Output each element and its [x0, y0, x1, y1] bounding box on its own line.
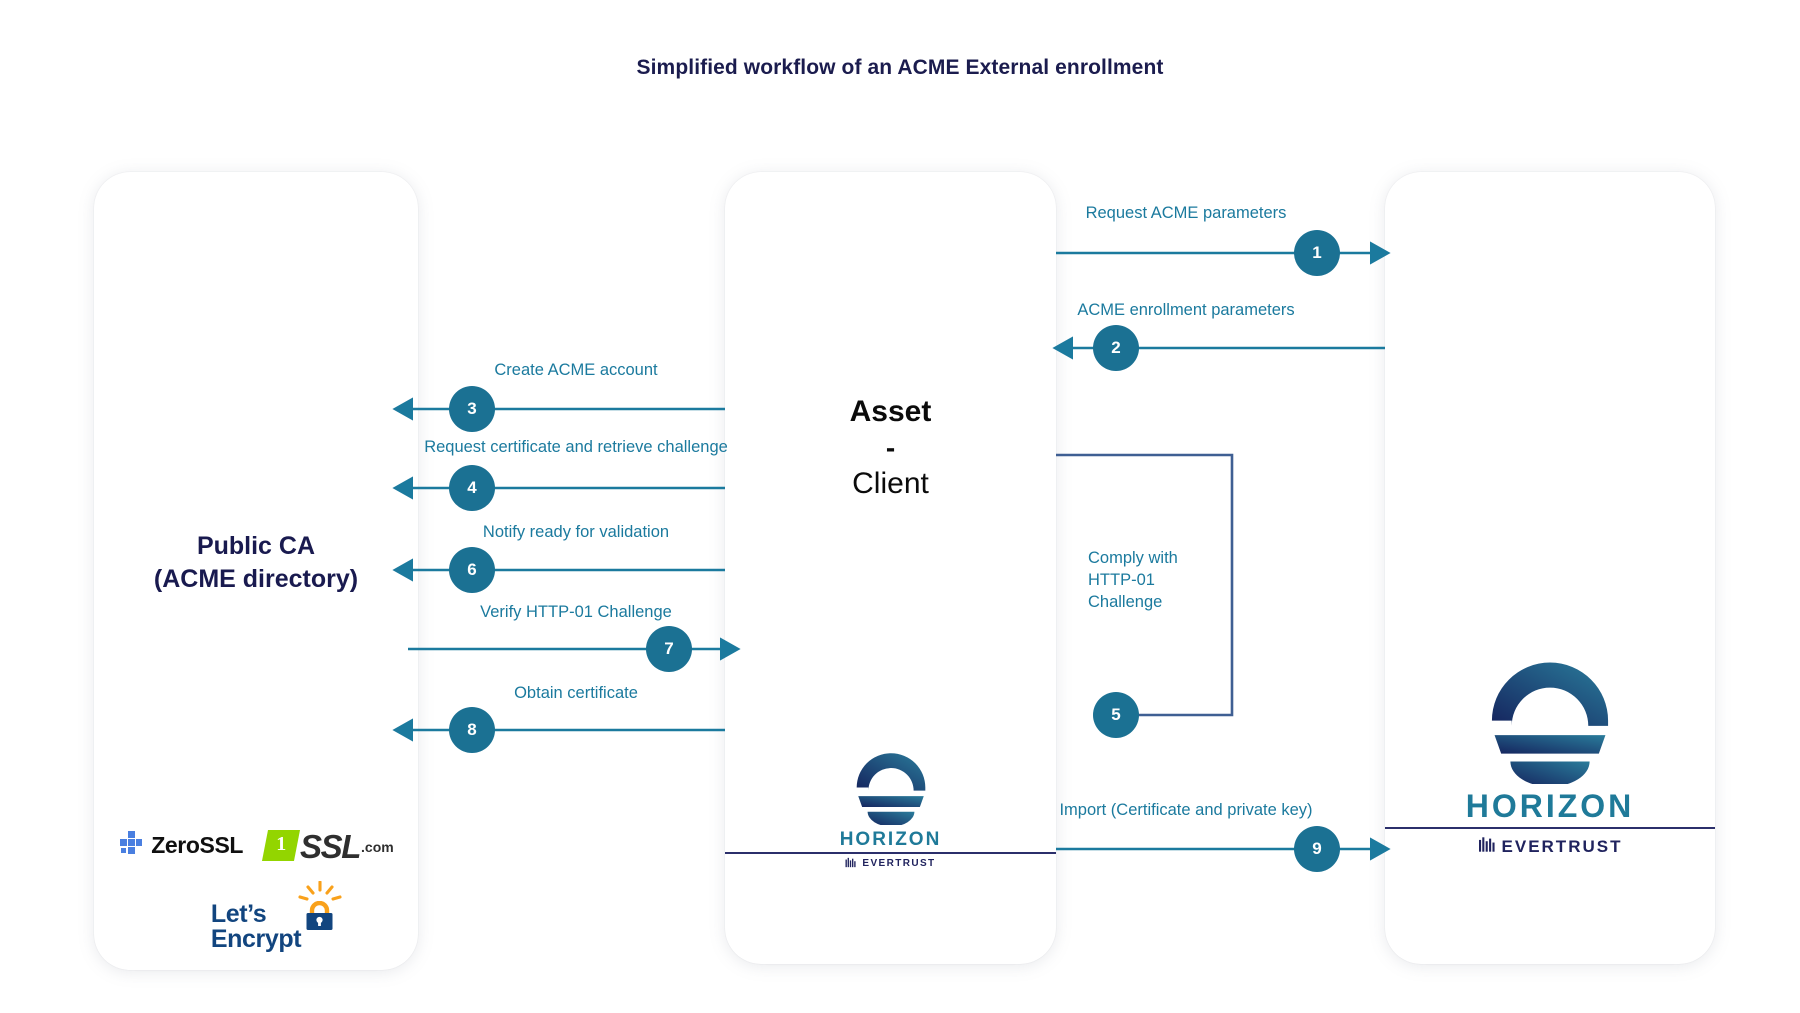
- zerossl-cross-icon: [118, 830, 144, 861]
- evertrust-glyph-icon: [1478, 836, 1497, 858]
- step-badge-7[interactable]: 7: [646, 626, 692, 672]
- lets-encrypt-line1: Let’s: [211, 902, 301, 927]
- asset-client-line1: Asset: [725, 394, 1056, 429]
- sslcom-tld: .com: [361, 835, 394, 860]
- label-step-5-line1: Comply with: [1088, 548, 1218, 570]
- zerossl-logo: ZeroSSL: [118, 830, 243, 861]
- ca-logo-row-top: ZeroSSL SSL .com: [94, 822, 418, 868]
- asset-client-heading: Asset - Client: [725, 394, 1056, 502]
- sslcom-wordmark: SSL: [300, 833, 360, 860]
- label-step-7: Verify HTTP-01 Challenge: [416, 602, 736, 624]
- label-step-3: Create ACME account: [416, 360, 736, 382]
- asset-client-line2: -: [725, 431, 1056, 464]
- evertrust-glyph-icon: [845, 857, 857, 871]
- step-badge-8[interactable]: 8: [449, 707, 495, 753]
- evertrust-text: EVERTRUST: [862, 858, 935, 869]
- evertrust-sub: EVERTRUST: [1478, 836, 1623, 858]
- label-step-4-line1: Request certificate and retrieve: [424, 438, 652, 456]
- step-badge-2[interactable]: 2: [1093, 325, 1139, 371]
- public-ca-title-line1: Public CA: [94, 530, 418, 563]
- horizon-wordmark: HORIZON: [840, 830, 942, 851]
- label-step-9: Import (Certificate and private key): [986, 800, 1386, 822]
- label-step-8: Obtain certificate: [416, 683, 736, 705]
- panel-horizon: HORIZON EVERTRUST: [1385, 172, 1715, 964]
- sslcom-logo: SSL .com: [265, 830, 394, 861]
- panel-public-ca: Public CA (ACME directory): [94, 172, 418, 970]
- label-step-4-line2: challenge: [657, 438, 728, 456]
- public-ca-title: Public CA (ACME directory): [94, 530, 418, 596]
- horizon-mark-icon: [852, 747, 930, 830]
- sslcom-badge-icon: [262, 830, 300, 861]
- label-step-2: ACME enrollment parameters: [986, 300, 1386, 322]
- label-step-5-line2: HTTP-01: [1088, 570, 1218, 592]
- step-badge-6[interactable]: 6: [449, 547, 495, 593]
- label-step-5: Comply with HTTP-01 Challenge: [1088, 548, 1218, 614]
- evertrust-sub: EVERTRUST: [845, 857, 935, 871]
- evertrust-text: EVERTRUST: [1502, 837, 1623, 857]
- asset-client-line3: Client: [725, 466, 1056, 501]
- lets-encrypt-line2: Encrypt: [211, 927, 301, 952]
- lets-encrypt-logo: Let’s Encrypt: [94, 902, 418, 951]
- label-step-1: Request ACME parameters: [986, 203, 1386, 225]
- page-title: Simplified workflow of an ACME External …: [0, 56, 1800, 80]
- step-badge-9[interactable]: 9: [1294, 826, 1340, 872]
- ca-logo-group: ZeroSSL SSL .com: [94, 822, 418, 951]
- padlock-icon: [303, 901, 336, 931]
- horizon-wordmark: HORIZON: [1466, 789, 1635, 824]
- label-step-4: Request certificate and retrieve challen…: [416, 437, 736, 459]
- step-badge-3[interactable]: 3: [449, 386, 495, 432]
- zerossl-wordmark: ZeroSSL: [151, 832, 243, 859]
- step-badge-4[interactable]: 4: [449, 465, 495, 511]
- step-badge-1[interactable]: 1: [1294, 230, 1340, 276]
- horizon-mark-icon: [1484, 652, 1616, 789]
- lets-encrypt-wordmark: Let’s Encrypt: [211, 902, 301, 951]
- horizon-divider: [725, 852, 1056, 854]
- diagram-canvas: Simplified workflow of an ACME External …: [0, 0, 1800, 1013]
- horizon-logo-large: HORIZON EVERTRUST: [1385, 652, 1715, 858]
- step-badge-5[interactable]: 5: [1093, 692, 1139, 738]
- label-step-5-line3: Challenge: [1088, 592, 1218, 614]
- horizon-divider: [1385, 827, 1715, 829]
- panel-asset-client: Asset - Client HORIZON: [725, 172, 1056, 964]
- public-ca-title-line2: (ACME directory): [94, 563, 418, 596]
- label-step-6: Notify ready for validation: [416, 522, 736, 544]
